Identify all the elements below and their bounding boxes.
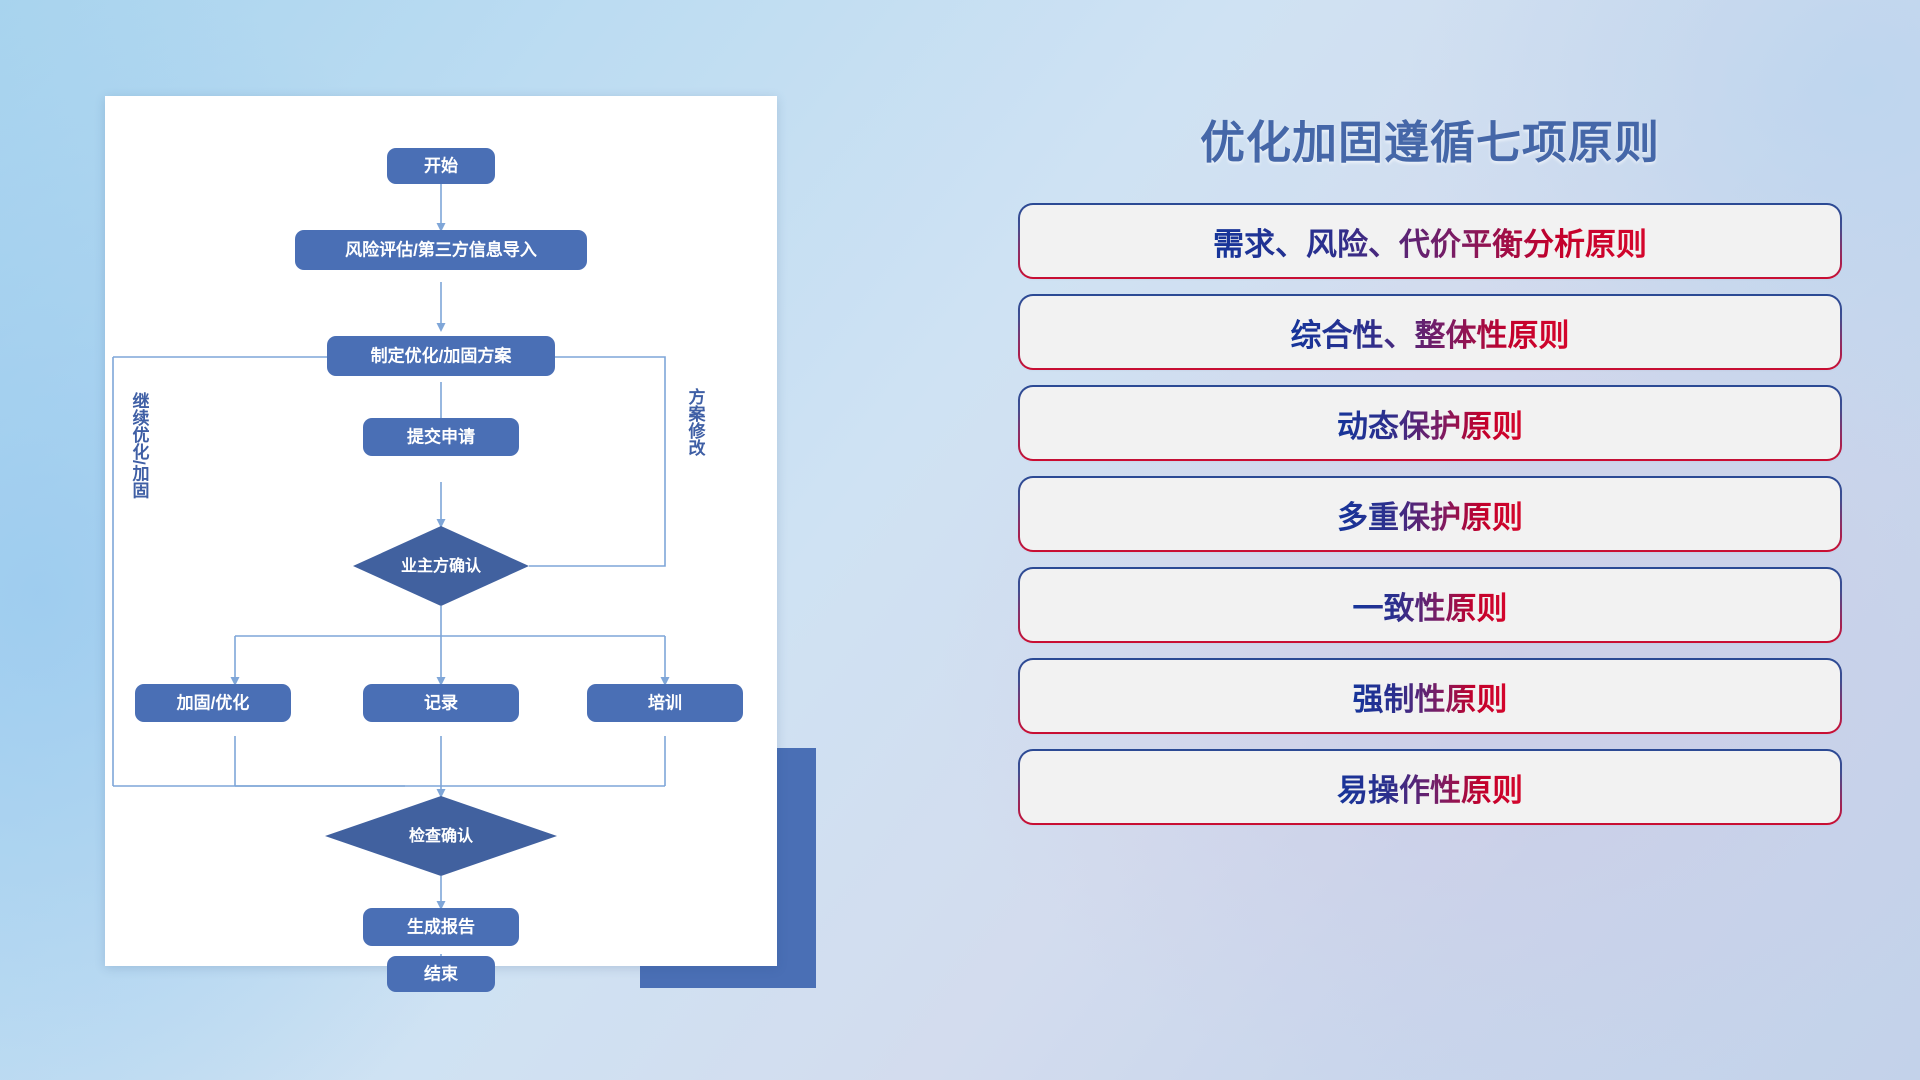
flow-node-risk: 风险评估/第三方信息导入 (295, 230, 587, 270)
principle-card[interactable]: 需求、风险、代价平衡分析原则 (1020, 205, 1840, 277)
slide-root: 开始 风险评估/第三方信息导入 制定优化/加固方案 提交申请 业主方确认 (0, 0, 1920, 1080)
principle-card[interactable]: 综合性、整体性原则 (1020, 296, 1840, 368)
flow-node-record: 记录 (363, 684, 519, 722)
flow-node-label: 业主方确认 (401, 556, 482, 575)
principle-card-label: 动态保护原则 (1337, 401, 1523, 446)
flow-node-label: 记录 (424, 693, 458, 712)
flowchart-diagram: 开始 风险评估/第三方信息导入 制定优化/加固方案 提交申请 业主方确认 (105, 96, 777, 966)
flow-node-label: 制定优化/加固方案 (371, 345, 513, 365)
flow-node-label: 开始 (424, 155, 458, 175)
principle-card-label: 需求、风险、代价平衡分析原则 (1213, 219, 1647, 264)
principle-card[interactable]: 动态保护原则 (1020, 387, 1840, 459)
flow-node-report: 生成报告 (363, 908, 519, 946)
principles-section: 优化加固遵循七项原则 需求、风险、代价平衡分析原则 综合性、整体性原则 动态保护… (1020, 96, 1840, 996)
principle-card-label: 一致性原则 (1353, 583, 1508, 628)
flow-node-label: 培训 (648, 692, 682, 712)
principle-card-list: 需求、风险、代价平衡分析原则 综合性、整体性原则 动态保护原则 多重保护原则 一… (1020, 205, 1840, 823)
flow-node-training: 培训 (587, 684, 743, 722)
principle-card-label: 综合性、整体性原则 (1291, 310, 1570, 355)
flow-node-start: 开始 (387, 148, 495, 184)
principle-card[interactable]: 一致性原则 (1020, 569, 1840, 641)
flowchart-panel: 开始 风险评估/第三方信息导入 制定优化/加固方案 提交申请 业主方确认 (105, 96, 777, 966)
principle-card[interactable]: 易操作性原则 (1020, 751, 1840, 823)
flow-node-check: 检查确认 (325, 796, 557, 876)
flow-edge-label-right: 方案修改 (686, 387, 707, 457)
flow-node-submit: 提交申请 (363, 418, 519, 456)
flow-node-end: 结束 (387, 956, 495, 992)
flow-node-label: 检查确认 (409, 826, 474, 845)
flow-node-label: 加固/优化 (176, 692, 250, 712)
flow-node-label: 提交申请 (407, 426, 475, 446)
principle-card[interactable]: 强制性原则 (1020, 660, 1840, 732)
principle-card[interactable]: 多重保护原则 (1020, 478, 1840, 550)
flow-edge-label-left: 继续优化/加固 (130, 391, 151, 500)
flow-node-label: 生成报告 (407, 916, 475, 936)
flow-node-plan: 制定优化/加固方案 (327, 336, 555, 376)
flow-node-label: 结束 (424, 963, 458, 983)
flowchart-end-node-layer: 结束 (105, 942, 777, 1002)
flow-node-label: 风险评估/第三方信息导入 (345, 239, 537, 259)
principle-card-label: 多重保护原则 (1337, 492, 1523, 537)
principle-card-label: 强制性原则 (1353, 674, 1508, 719)
flow-node-owner-confirm: 业主方确认 (353, 526, 529, 606)
principle-card-label: 易操作性原则 (1337, 765, 1523, 810)
page-title: 优化加固遵循七项原则 (1020, 106, 1840, 171)
flow-node-reinforce: 加固/优化 (135, 684, 291, 722)
